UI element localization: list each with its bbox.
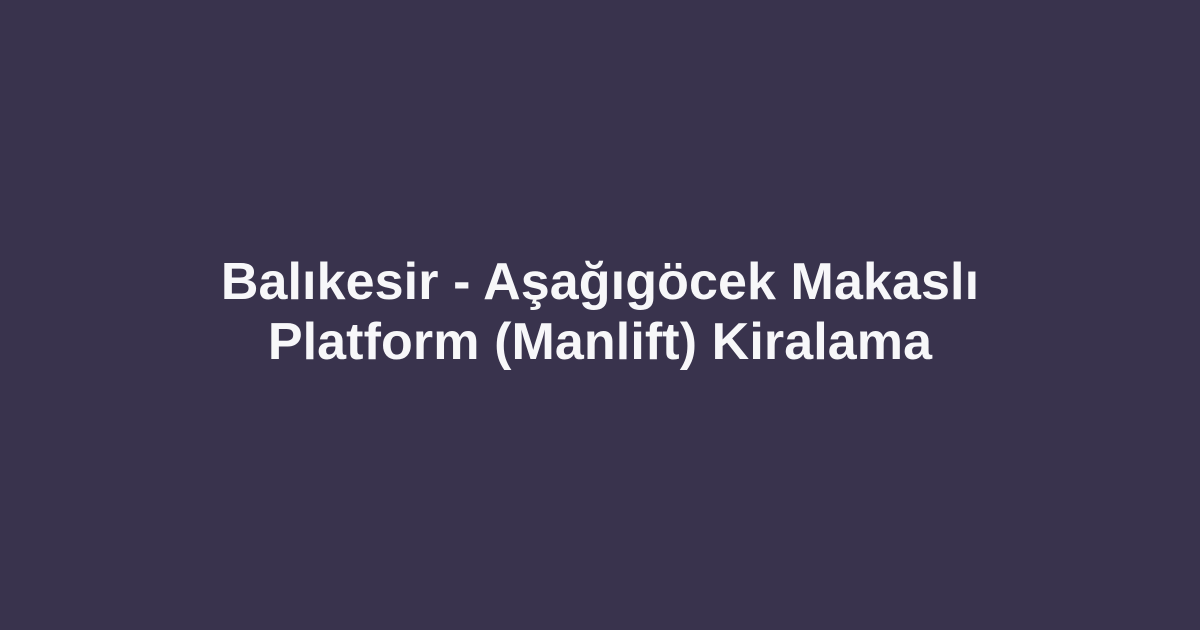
share-card-content: Balıkesir - Aşağıgöcek Makaslı Platform …	[200, 252, 1000, 372]
page-title: Balıkesir - Aşağıgöcek Makaslı Platform …	[210, 252, 990, 372]
share-card-canvas: Balıkesir - Aşağıgöcek Makaslı Platform …	[0, 0, 1200, 630]
